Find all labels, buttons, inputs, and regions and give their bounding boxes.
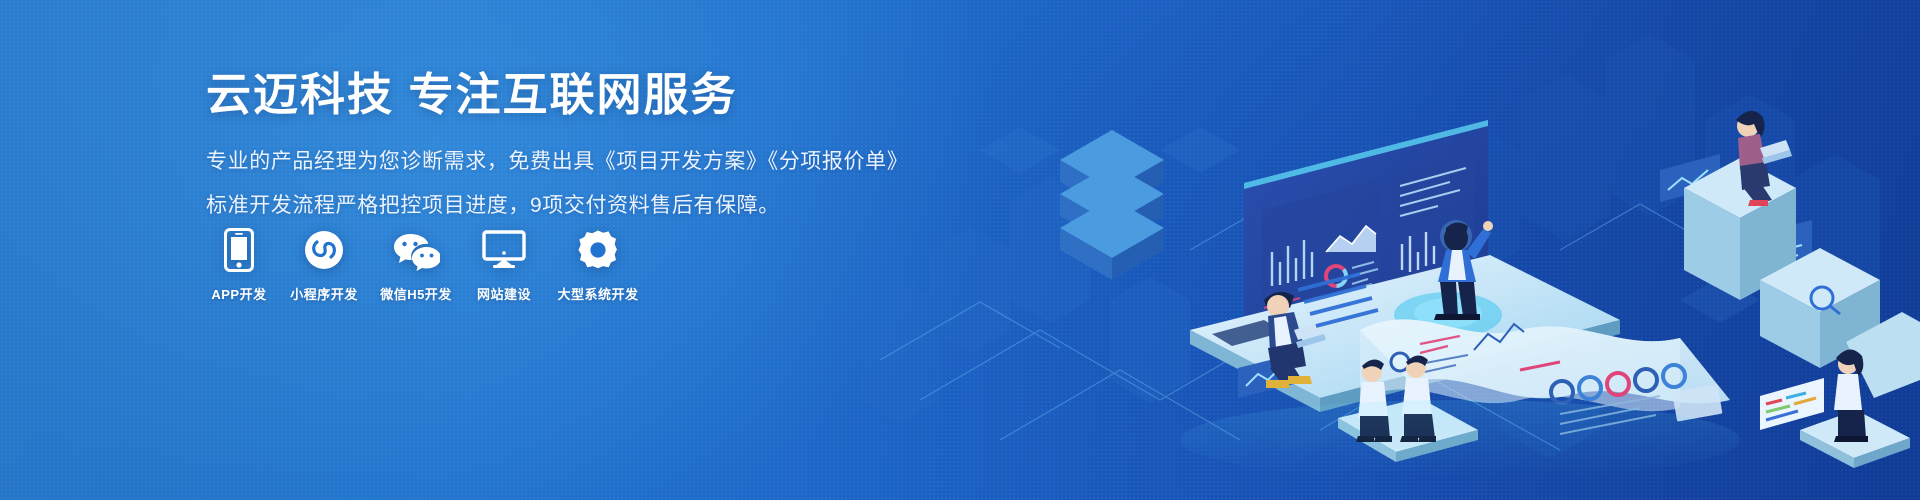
stacked-server-cube [1060, 130, 1164, 280]
service-item-large-system[interactable]: 大型系统开发 [546, 228, 650, 303]
service-label: 大型系统开发 [557, 284, 638, 303]
hero-copy: 云迈科技 专注互联网服务 专业的产品经理为您诊断需求，免费出具《项目开发方案》《… [206, 68, 966, 233]
subtitle-line-1: 专业的产品经理为您诊断需求，免费出具《项目开发方案》《分项报价单》 [206, 145, 966, 179]
page-title: 云迈科技 专注互联网服务 [206, 68, 966, 123]
hero-banner: 云迈科技 专注互联网服务 专业的产品经理为您诊断需求，免费出具《项目开发方案》《… [0, 0, 1920, 500]
code-card [1760, 378, 1824, 430]
service-label: APP开发 [211, 284, 266, 303]
service-label: 微信H5开发 [380, 284, 452, 303]
service-item-miniprogram[interactable]: 小程序开发 [278, 228, 370, 303]
hero-subtitle: 专业的产品经理为您诊断需求，免费出具《项目开发方案》《分项报价单》 标准开发流程… [206, 123, 966, 223]
gear-icon [577, 228, 619, 272]
service-item-wechat-h5[interactable]: 微信H5开发 [370, 228, 462, 303]
isometric-tech-illustration [860, 0, 1920, 500]
service-label: 小程序开发 [290, 284, 358, 303]
service-label: 网站建设 [477, 284, 531, 303]
service-list: APP开发 小程序开发 微信 [200, 228, 650, 303]
subtitle-line-2: 标准开发流程严格把控项目进度，9项交付资料售后有保障。 [206, 189, 966, 223]
service-item-website[interactable]: 网站建设 [462, 228, 546, 303]
wechat-icon [392, 228, 440, 272]
monitor-icon [482, 228, 526, 272]
mobile-phone-icon [224, 228, 254, 272]
mini-program-icon [304, 228, 344, 272]
service-item-app[interactable]: APP开发 [200, 228, 278, 303]
